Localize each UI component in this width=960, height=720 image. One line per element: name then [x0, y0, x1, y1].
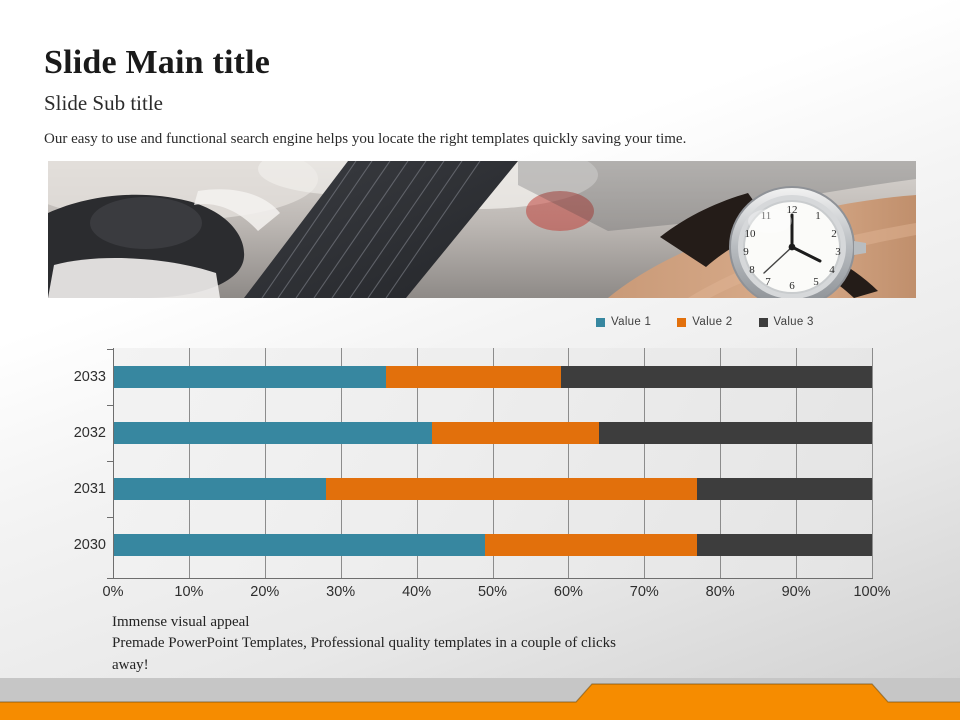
- bar-segment-3[interactable]: [697, 478, 872, 500]
- svg-text:5: 5: [813, 276, 819, 288]
- x-axis-label-0%: 0%: [103, 584, 124, 600]
- x-axis-label-90%: 90%: [782, 584, 811, 600]
- page-subtitle: Slide Sub title: [44, 92, 163, 115]
- category-axis-labels: 2033203220312030: [48, 348, 106, 578]
- x-axis-line: [113, 578, 873, 579]
- x-axis-labels: 0%10%20%30%40%50%60%70%80%90%100%: [113, 584, 872, 604]
- legend-label-value-1: Value 1: [611, 316, 651, 328]
- y-axis-tick: [107, 517, 113, 518]
- legend-swatch-value-2: [677, 318, 686, 327]
- svg-text:2: 2: [831, 228, 837, 240]
- y-axis-tick: [107, 578, 113, 579]
- bar-segment-2[interactable]: [432, 422, 599, 444]
- x-axis-label-50%: 50%: [478, 584, 507, 600]
- slide-footer: [0, 678, 960, 720]
- svg-text:10: 10: [745, 228, 757, 240]
- stacked-bar-chart: 2033203220312030 0%10%20%30%40%50%60%70%…: [48, 348, 888, 598]
- category-label-2032: 2032: [48, 422, 106, 444]
- svg-text:3: 3: [835, 246, 841, 258]
- bar-segment-3[interactable]: [599, 422, 872, 444]
- page-title: Slide Main title: [44, 44, 270, 81]
- bar-segment-1[interactable]: [113, 422, 432, 444]
- footer-banner-shape: [0, 678, 960, 720]
- bar-segment-3[interactable]: [697, 534, 872, 556]
- y-axis-tick: [107, 461, 113, 462]
- caption-line-3: away!: [112, 655, 812, 676]
- caption-block: Immense visual appeal Premade PowerPoint…: [112, 612, 812, 676]
- x-axis-label-80%: 80%: [706, 584, 735, 600]
- legend-label-value-2: Value 2: [692, 316, 732, 328]
- x-axis-label-70%: 70%: [630, 584, 659, 600]
- svg-text:6: 6: [789, 280, 795, 292]
- caption-line-1: Immense visual appeal: [112, 612, 812, 633]
- bar-row[interactable]: [113, 422, 872, 444]
- svg-text:1: 1: [815, 210, 821, 222]
- bar-segment-2[interactable]: [386, 366, 561, 388]
- legend-item-value-2[interactable]: Value 2: [677, 316, 732, 328]
- category-label-2033: 2033: [48, 366, 106, 388]
- svg-text:4: 4: [829, 264, 835, 276]
- svg-text:9: 9: [743, 246, 749, 258]
- x-axis-label-30%: 30%: [326, 584, 355, 600]
- y-axis-line: [113, 348, 114, 579]
- legend-item-value-3[interactable]: Value 3: [759, 316, 814, 328]
- bar-segment-1[interactable]: [113, 478, 326, 500]
- wristwatch-photo-illustration: 12 1 2 3 4 5 6 7 8 9 10 11: [48, 161, 916, 298]
- x-axis-label-100%: 100%: [853, 584, 890, 600]
- chart-legend: Value 1 Value 2 Value 3: [596, 316, 814, 328]
- bar-row[interactable]: [113, 534, 872, 556]
- bar-segment-2[interactable]: [485, 534, 698, 556]
- legend-swatch-value-3: [759, 318, 768, 327]
- category-label-2031: 2031: [48, 478, 106, 500]
- bar-segment-1[interactable]: [113, 366, 386, 388]
- legend-swatch-value-1: [596, 318, 605, 327]
- legend-label-value-3: Value 3: [774, 316, 814, 328]
- bar-segment-3[interactable]: [561, 366, 872, 388]
- bar-row[interactable]: [113, 478, 872, 500]
- x-axis-label-20%: 20%: [250, 584, 279, 600]
- bar-segment-1[interactable]: [113, 534, 485, 556]
- y-axis-tick: [107, 405, 113, 406]
- caption-line-2: Premade PowerPoint Templates, Profession…: [112, 633, 812, 654]
- slide: Slide Main title Slide Sub title Our eas…: [0, 0, 960, 720]
- x-axis-label-40%: 40%: [402, 584, 431, 600]
- legend-item-value-1[interactable]: Value 1: [596, 316, 651, 328]
- hero-image: 12 1 2 3 4 5 6 7 8 9 10 11: [48, 161, 916, 298]
- chart-plot-area: [113, 348, 872, 578]
- category-label-2030: 2030: [48, 534, 106, 556]
- x-axis-label-10%: 10%: [174, 584, 203, 600]
- gridline: [872, 348, 873, 578]
- bar-row[interactable]: [113, 366, 872, 388]
- bar-segment-2[interactable]: [326, 478, 698, 500]
- svg-text:8: 8: [749, 264, 755, 276]
- y-axis-tick: [107, 349, 113, 350]
- body-paragraph: Our easy to use and functional search en…: [44, 130, 686, 150]
- svg-text:7: 7: [765, 276, 771, 288]
- x-axis-label-60%: 60%: [554, 584, 583, 600]
